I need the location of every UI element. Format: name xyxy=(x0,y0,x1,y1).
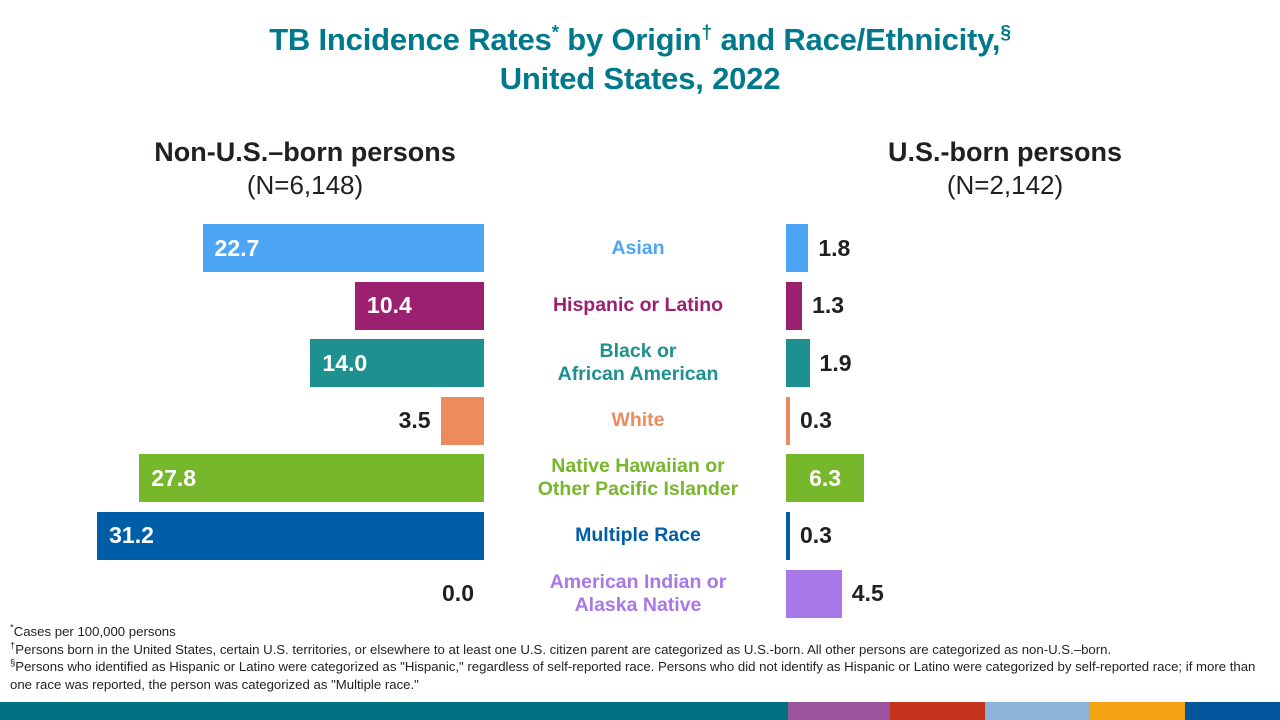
us-born-bar-group: 1.3 xyxy=(786,282,844,330)
column-header-left-count: (N=6,148) xyxy=(55,169,555,201)
us-born-bar xyxy=(786,224,808,272)
non-us-born-bar-group: 0.0 xyxy=(0,570,484,618)
us-born-bar-group: 0.3 xyxy=(786,512,832,560)
non-us-born-bar-group: 3.5 xyxy=(0,397,484,445)
non-us-born-bar: 14.0 xyxy=(310,339,484,387)
category-label-line: Native Hawaiian or xyxy=(551,455,724,478)
us-born-value-label: 4.5 xyxy=(852,580,884,607)
non-us-born-bar: 10.4 xyxy=(355,282,484,330)
category-label: Hispanic or Latino xyxy=(496,282,780,330)
category-label: Native Hawaiian orOther Pacific Islander xyxy=(496,454,780,502)
us-born-bar xyxy=(786,512,790,560)
category-label-line: American Indian or xyxy=(550,571,727,594)
us-born-bar xyxy=(786,282,802,330)
non-us-born-value-label: 10.4 xyxy=(367,292,412,319)
color-strip-segment xyxy=(0,702,788,720)
title-text-c: and Race/Ethnicity, xyxy=(712,22,1000,57)
footnote: *Cases per 100,000 persons xyxy=(10,623,1272,641)
non-us-born-bar xyxy=(441,397,484,445)
us-born-bar-wrapper xyxy=(786,224,808,272)
non-us-born-bar: 27.8 xyxy=(139,454,484,502)
us-born-bar-group: 6.3 xyxy=(786,454,864,502)
title-footnote-marker-section: § xyxy=(1000,23,1010,44)
footnote: §Persons who identified as Hispanic or L… xyxy=(10,658,1272,693)
chart-row: 31.2Multiple Race0.3 xyxy=(0,512,1280,570)
color-strip-segment xyxy=(788,702,890,720)
us-born-bar-group: 4.5 xyxy=(786,570,884,618)
column-header-left-name: Non-U.S.–born persons xyxy=(55,136,555,169)
chart-row: 3.5White0.3 xyxy=(0,397,1280,455)
column-header-right-count: (N=2,142) xyxy=(805,169,1205,201)
non-us-born-bar-group: 10.4 xyxy=(0,282,484,330)
category-label-line: Black or xyxy=(600,340,677,363)
color-strip-segment xyxy=(1090,702,1185,720)
non-us-born-value-label: 3.5 xyxy=(399,407,431,434)
page-title: TB Incidence Rates* by Origin† and Race/… xyxy=(0,20,1280,98)
non-us-born-value-label: 22.7 xyxy=(215,235,260,262)
title-footnote-marker-dagger: † xyxy=(702,23,712,44)
footnote-text: Persons born in the United States, certa… xyxy=(15,642,1111,657)
us-born-value-label: 0.3 xyxy=(800,522,832,549)
column-header-us-born: U.S.-born persons (N=2,142) xyxy=(805,136,1205,201)
us-born-bar-wrapper xyxy=(786,512,790,560)
color-strip-segment xyxy=(890,702,985,720)
title-line-2: United States, 2022 xyxy=(0,59,1280,98)
category-label: Multiple Race xyxy=(496,512,780,560)
us-born-bar-wrapper xyxy=(786,339,810,387)
chart-row: 0.0American Indian orAlaska Native4.5 xyxy=(0,570,1280,628)
us-born-value-label: 1.3 xyxy=(812,292,844,319)
non-us-born-bar-group: 14.0 xyxy=(0,339,484,387)
category-label-line: Other Pacific Islander xyxy=(538,478,739,501)
category-label: White xyxy=(496,397,780,445)
color-strip-segment xyxy=(1185,702,1280,720)
chart-row: 27.8Native Hawaiian orOther Pacific Isla… xyxy=(0,454,1280,512)
us-born-bar xyxy=(786,454,864,502)
non-us-born-bar: 31.2 xyxy=(97,512,484,560)
non-us-born-bar: 22.7 xyxy=(203,224,484,272)
non-us-born-bar-group: 31.2 xyxy=(0,512,484,560)
category-label: American Indian orAlaska Native xyxy=(496,570,780,618)
title-footnote-marker-asterisk: * xyxy=(552,23,559,44)
diverging-bar-chart: 22.7Asian1.810.4Hispanic or Latino1.314.… xyxy=(0,224,1280,627)
us-born-bar-wrapper: 6.3 xyxy=(786,454,864,502)
category-label-line: African American xyxy=(558,363,719,386)
us-born-bar-group: 1.8 xyxy=(786,224,850,272)
bottom-color-strip xyxy=(0,702,1280,720)
non-us-born-value-label: 0.0 xyxy=(442,580,474,607)
non-us-born-value-label: 31.2 xyxy=(109,522,154,549)
category-label-line: Hispanic or Latino xyxy=(553,294,723,317)
us-born-value-label: 1.8 xyxy=(818,235,850,262)
chart-row: 10.4Hispanic or Latino1.3 xyxy=(0,282,1280,340)
us-born-bar-wrapper xyxy=(786,570,842,618)
category-label-line: Asian xyxy=(611,237,664,260)
chart-row: 22.7Asian1.8 xyxy=(0,224,1280,282)
footnote-text: Cases per 100,000 persons xyxy=(14,624,176,639)
footnote: †Persons born in the United States, cert… xyxy=(10,641,1272,659)
category-label: Black orAfrican American xyxy=(496,339,780,387)
column-header-non-us-born: Non-U.S.–born persons (N=6,148) xyxy=(55,136,555,201)
us-born-value-label: 1.9 xyxy=(820,350,852,377)
us-born-bar-wrapper xyxy=(786,397,790,445)
us-born-value-label: 0.3 xyxy=(800,407,832,434)
non-us-born-bar-group: 27.8 xyxy=(0,454,484,502)
title-line-1: TB Incidence Rates* by Origin† and Race/… xyxy=(0,20,1280,59)
us-born-bar-group: 1.9 xyxy=(786,339,852,387)
title-text-a: TB Incidence Rates xyxy=(269,22,551,57)
footnotes-block: *Cases per 100,000 persons†Persons born … xyxy=(10,623,1272,693)
non-us-born-value-label: 27.8 xyxy=(151,465,196,492)
category-label-line: Alaska Native xyxy=(575,594,702,617)
non-us-born-bar-group: 22.7 xyxy=(0,224,484,272)
color-strip-segment xyxy=(985,702,1090,720)
chart-row: 14.0Black orAfrican American1.9 xyxy=(0,339,1280,397)
us-born-bar xyxy=(786,339,810,387)
us-born-bar-wrapper xyxy=(786,282,802,330)
category-label-line: White xyxy=(611,409,664,432)
us-born-bar-group: 0.3 xyxy=(786,397,832,445)
non-us-born-value-label: 14.0 xyxy=(322,350,367,377)
title-text-b: by Origin xyxy=(559,22,702,57)
column-header-right-name: U.S.-born persons xyxy=(805,136,1205,169)
footnote-text: Persons who identified as Hispanic or La… xyxy=(10,659,1255,692)
us-born-bar xyxy=(786,570,842,618)
category-label: Asian xyxy=(496,224,780,272)
us-born-bar xyxy=(786,397,790,445)
category-label-line: Multiple Race xyxy=(575,524,701,547)
